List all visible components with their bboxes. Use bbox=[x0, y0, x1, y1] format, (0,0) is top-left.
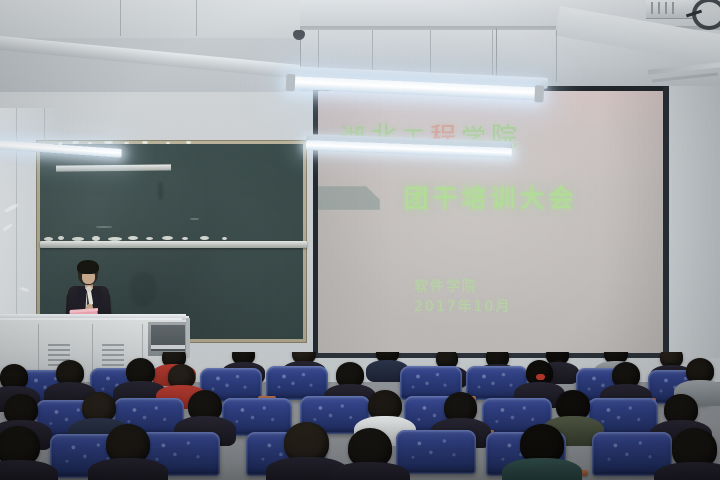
audience-shoulders bbox=[502, 458, 582, 480]
audience-seating bbox=[0, 352, 720, 480]
blackboard-upper-ledge bbox=[56, 164, 171, 171]
ring-fixture-icon bbox=[692, 0, 720, 30]
ceiling-seam bbox=[120, 0, 121, 36]
seat[interactable] bbox=[396, 430, 476, 474]
slide-title: 团干培训大会 bbox=[318, 179, 663, 215]
ceiling-seam bbox=[196, 0, 197, 36]
light-hanger-rod bbox=[496, 28, 497, 80]
speaker-hair bbox=[77, 260, 99, 274]
right-wall-panel bbox=[669, 86, 720, 358]
cabinet-shelf bbox=[151, 345, 185, 349]
lecture-hall-photo: 湖 北 工 程 学 院 团干培训大会 软件学院 2017年10月 bbox=[0, 0, 720, 480]
audience-shoulders bbox=[88, 458, 168, 480]
audience-shoulders bbox=[330, 462, 410, 480]
projection-screen: 湖 北 工 程 学 院 团干培训大会 软件学院 2017年10月 bbox=[313, 86, 669, 358]
ceiling-seam bbox=[556, 30, 557, 82]
blackboard-chalk-rail bbox=[40, 241, 307, 248]
seat[interactable] bbox=[266, 366, 328, 400]
screen-border-right bbox=[663, 86, 669, 358]
hair-clip bbox=[536, 374, 545, 380]
slide-surface: 湖 北 工 程 学 院 团干培训大会 软件学院 2017年10月 bbox=[318, 91, 663, 353]
slide-subtitle-org: 软件学院 bbox=[414, 277, 614, 297]
microphone-head bbox=[86, 286, 92, 292]
slide-subtitle-date: 2017年10月 bbox=[414, 297, 614, 317]
slide-subtitle: 软件学院 2017年10月 bbox=[414, 277, 614, 318]
